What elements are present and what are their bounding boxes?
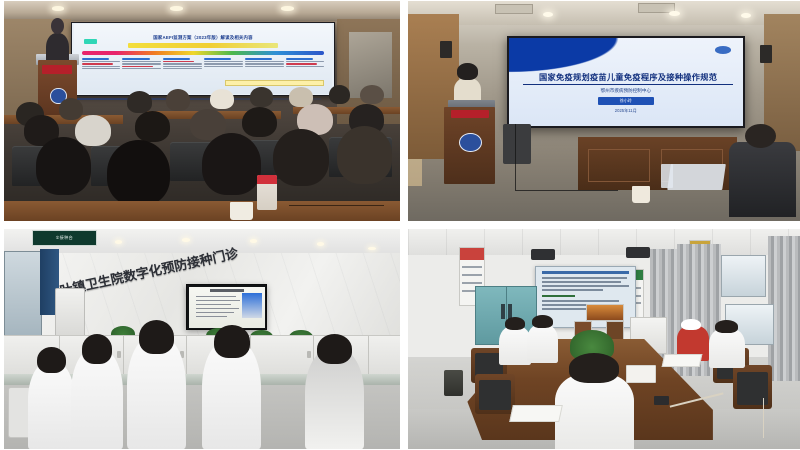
waste-bin bbox=[444, 370, 464, 396]
slide-timeline-bar bbox=[82, 51, 325, 55]
slide-date: 2025年11月 bbox=[509, 108, 743, 114]
air-conditioner bbox=[55, 288, 85, 338]
photo-collage: 国家AEFI监测方案（2023年版）解读及相关内容 bbox=[0, 0, 800, 450]
slide-column bbox=[204, 58, 243, 78]
audience-head bbox=[75, 115, 111, 146]
staff-member bbox=[28, 361, 76, 449]
slide-columns bbox=[82, 58, 325, 78]
audience-head-foreground bbox=[107, 140, 170, 206]
attendee bbox=[729, 142, 796, 217]
ceiling-spotlight-icon bbox=[182, 238, 190, 242]
table-panel bbox=[588, 149, 650, 182]
photo-top-right-led-presentation: 国家免疫规划疫苗儿童免疫程序及接种操作规范 鄂州市疾病预防控制中心 徐小玲 20… bbox=[408, 1, 800, 221]
monitor-side-panel bbox=[242, 293, 262, 318]
podium-emblem-icon bbox=[459, 133, 482, 152]
monitor-screen bbox=[189, 287, 265, 328]
monitor-doc-line bbox=[196, 300, 240, 301]
staff-member bbox=[305, 348, 364, 449]
audience-head bbox=[127, 91, 153, 113]
wall-speaker bbox=[440, 41, 452, 59]
slide-column bbox=[286, 58, 325, 78]
led-wall-display: 国家免疫规划疫苗儿童免疫程序及接种操作规范 鄂州市疾病预防控制中心 徐小玲 20… bbox=[507, 36, 745, 128]
vaccination-station-label: ①接种台 bbox=[56, 235, 74, 241]
audience-head bbox=[250, 87, 274, 107]
staff-member bbox=[127, 335, 186, 449]
thermos-bottle bbox=[257, 175, 277, 210]
attendee-head bbox=[745, 124, 776, 148]
framed-picture bbox=[586, 304, 624, 321]
attendee bbox=[527, 324, 559, 364]
organization-logo-icon bbox=[715, 46, 731, 54]
slide-column bbox=[245, 58, 284, 78]
podium bbox=[444, 107, 495, 184]
monitor-doc-title bbox=[210, 289, 244, 292]
ceiling-light-icon bbox=[669, 11, 679, 16]
window bbox=[721, 255, 767, 297]
slide-heading bbox=[542, 271, 629, 274]
monitor-doc-line bbox=[196, 312, 234, 313]
cable bbox=[289, 205, 384, 206]
slide-column bbox=[163, 58, 202, 78]
vaccination-station-sign: ①接种台 bbox=[32, 230, 97, 246]
audience-head bbox=[329, 85, 351, 105]
wall-speaker bbox=[760, 45, 772, 63]
tissue-box bbox=[626, 365, 656, 382]
podium-nameplate bbox=[451, 110, 489, 118]
slide-column bbox=[82, 58, 121, 78]
ceiling-light-icon bbox=[170, 6, 183, 11]
slide-content: 国家AEFI监测方案（2023年版）解读及相关内容 bbox=[74, 24, 332, 94]
cable bbox=[515, 190, 618, 191]
audience-head-foreground bbox=[337, 126, 392, 183]
ceiling-spotlight-icon bbox=[115, 240, 123, 244]
audience-head-foreground bbox=[273, 129, 328, 186]
slide-subheading bbox=[542, 295, 576, 297]
cable bbox=[515, 124, 516, 190]
slide-title: 国家AEFI监测方案（2023年版）解读及相关内容 bbox=[82, 35, 325, 41]
slide-footer-note bbox=[225, 80, 324, 86]
audience-head-foreground bbox=[202, 133, 261, 195]
ceiling-vent bbox=[495, 4, 533, 14]
slide-title: 国家免疫规划疫苗儿童免疫程序及接种操作规范 bbox=[523, 71, 733, 85]
audience-head bbox=[166, 89, 190, 111]
water-bottle bbox=[661, 164, 673, 188]
chair bbox=[503, 124, 531, 164]
presenter bbox=[46, 33, 70, 64]
document bbox=[662, 354, 702, 367]
screen-caption-line bbox=[75, 98, 321, 100]
photo-top-left-lecture-hall: 国家AEFI监测方案（2023年版）解读及相关内容 bbox=[4, 1, 400, 221]
staff-member bbox=[71, 348, 122, 449]
photo-bottom-left-clinic-counter: ①接种台 杨叶镇卫生院数字化预防接种门诊 bbox=[4, 229, 400, 449]
projection-screen: 国家AEFI监测方案（2023年版）解读及相关内容 bbox=[71, 22, 334, 97]
power-cord bbox=[763, 398, 765, 438]
ceiling-light-icon bbox=[281, 6, 294, 11]
wall-mounted-monitor bbox=[186, 284, 267, 330]
audience-head bbox=[242, 107, 278, 138]
ceiling-light-icon bbox=[52, 6, 65, 11]
chair bbox=[733, 365, 773, 409]
slide-highlight-band bbox=[128, 43, 278, 48]
audience-head bbox=[59, 98, 83, 120]
podium-nameplate bbox=[42, 65, 72, 74]
attendee bbox=[709, 328, 745, 368]
slide-organization: 鄂州市疾病预防控制中心 bbox=[509, 88, 743, 94]
slide-column bbox=[122, 58, 161, 78]
attendee-laptop bbox=[668, 164, 727, 190]
white-cap bbox=[681, 319, 701, 330]
slide-marker bbox=[84, 39, 97, 44]
ceiling-projector bbox=[626, 247, 650, 258]
attendee-foreground bbox=[555, 374, 634, 449]
ceiling-spotlight-icon bbox=[317, 242, 325, 246]
ceiling-projector bbox=[531, 249, 555, 260]
monitor-doc-line bbox=[196, 316, 226, 317]
monitor-doc-line bbox=[196, 308, 239, 309]
photo-bottom-right-meeting-room bbox=[408, 229, 800, 449]
chair bbox=[475, 374, 515, 414]
staff-member bbox=[202, 339, 261, 449]
attendee bbox=[499, 326, 531, 366]
monitor-doc-line bbox=[196, 304, 231, 305]
monitor-doc-line bbox=[196, 296, 236, 297]
paper-cup bbox=[632, 186, 650, 204]
audience-head bbox=[135, 111, 171, 142]
paper-cup bbox=[230, 202, 254, 220]
mobile-phone bbox=[654, 396, 670, 405]
audience-head-foreground bbox=[36, 137, 91, 194]
ceiling-spotlight-icon bbox=[250, 239, 258, 243]
bottle-cap bbox=[257, 175, 277, 184]
document bbox=[509, 405, 562, 422]
slide-presenter-badge: 徐小玲 bbox=[598, 97, 654, 105]
audience-head bbox=[360, 85, 384, 105]
audience-head bbox=[210, 89, 234, 109]
